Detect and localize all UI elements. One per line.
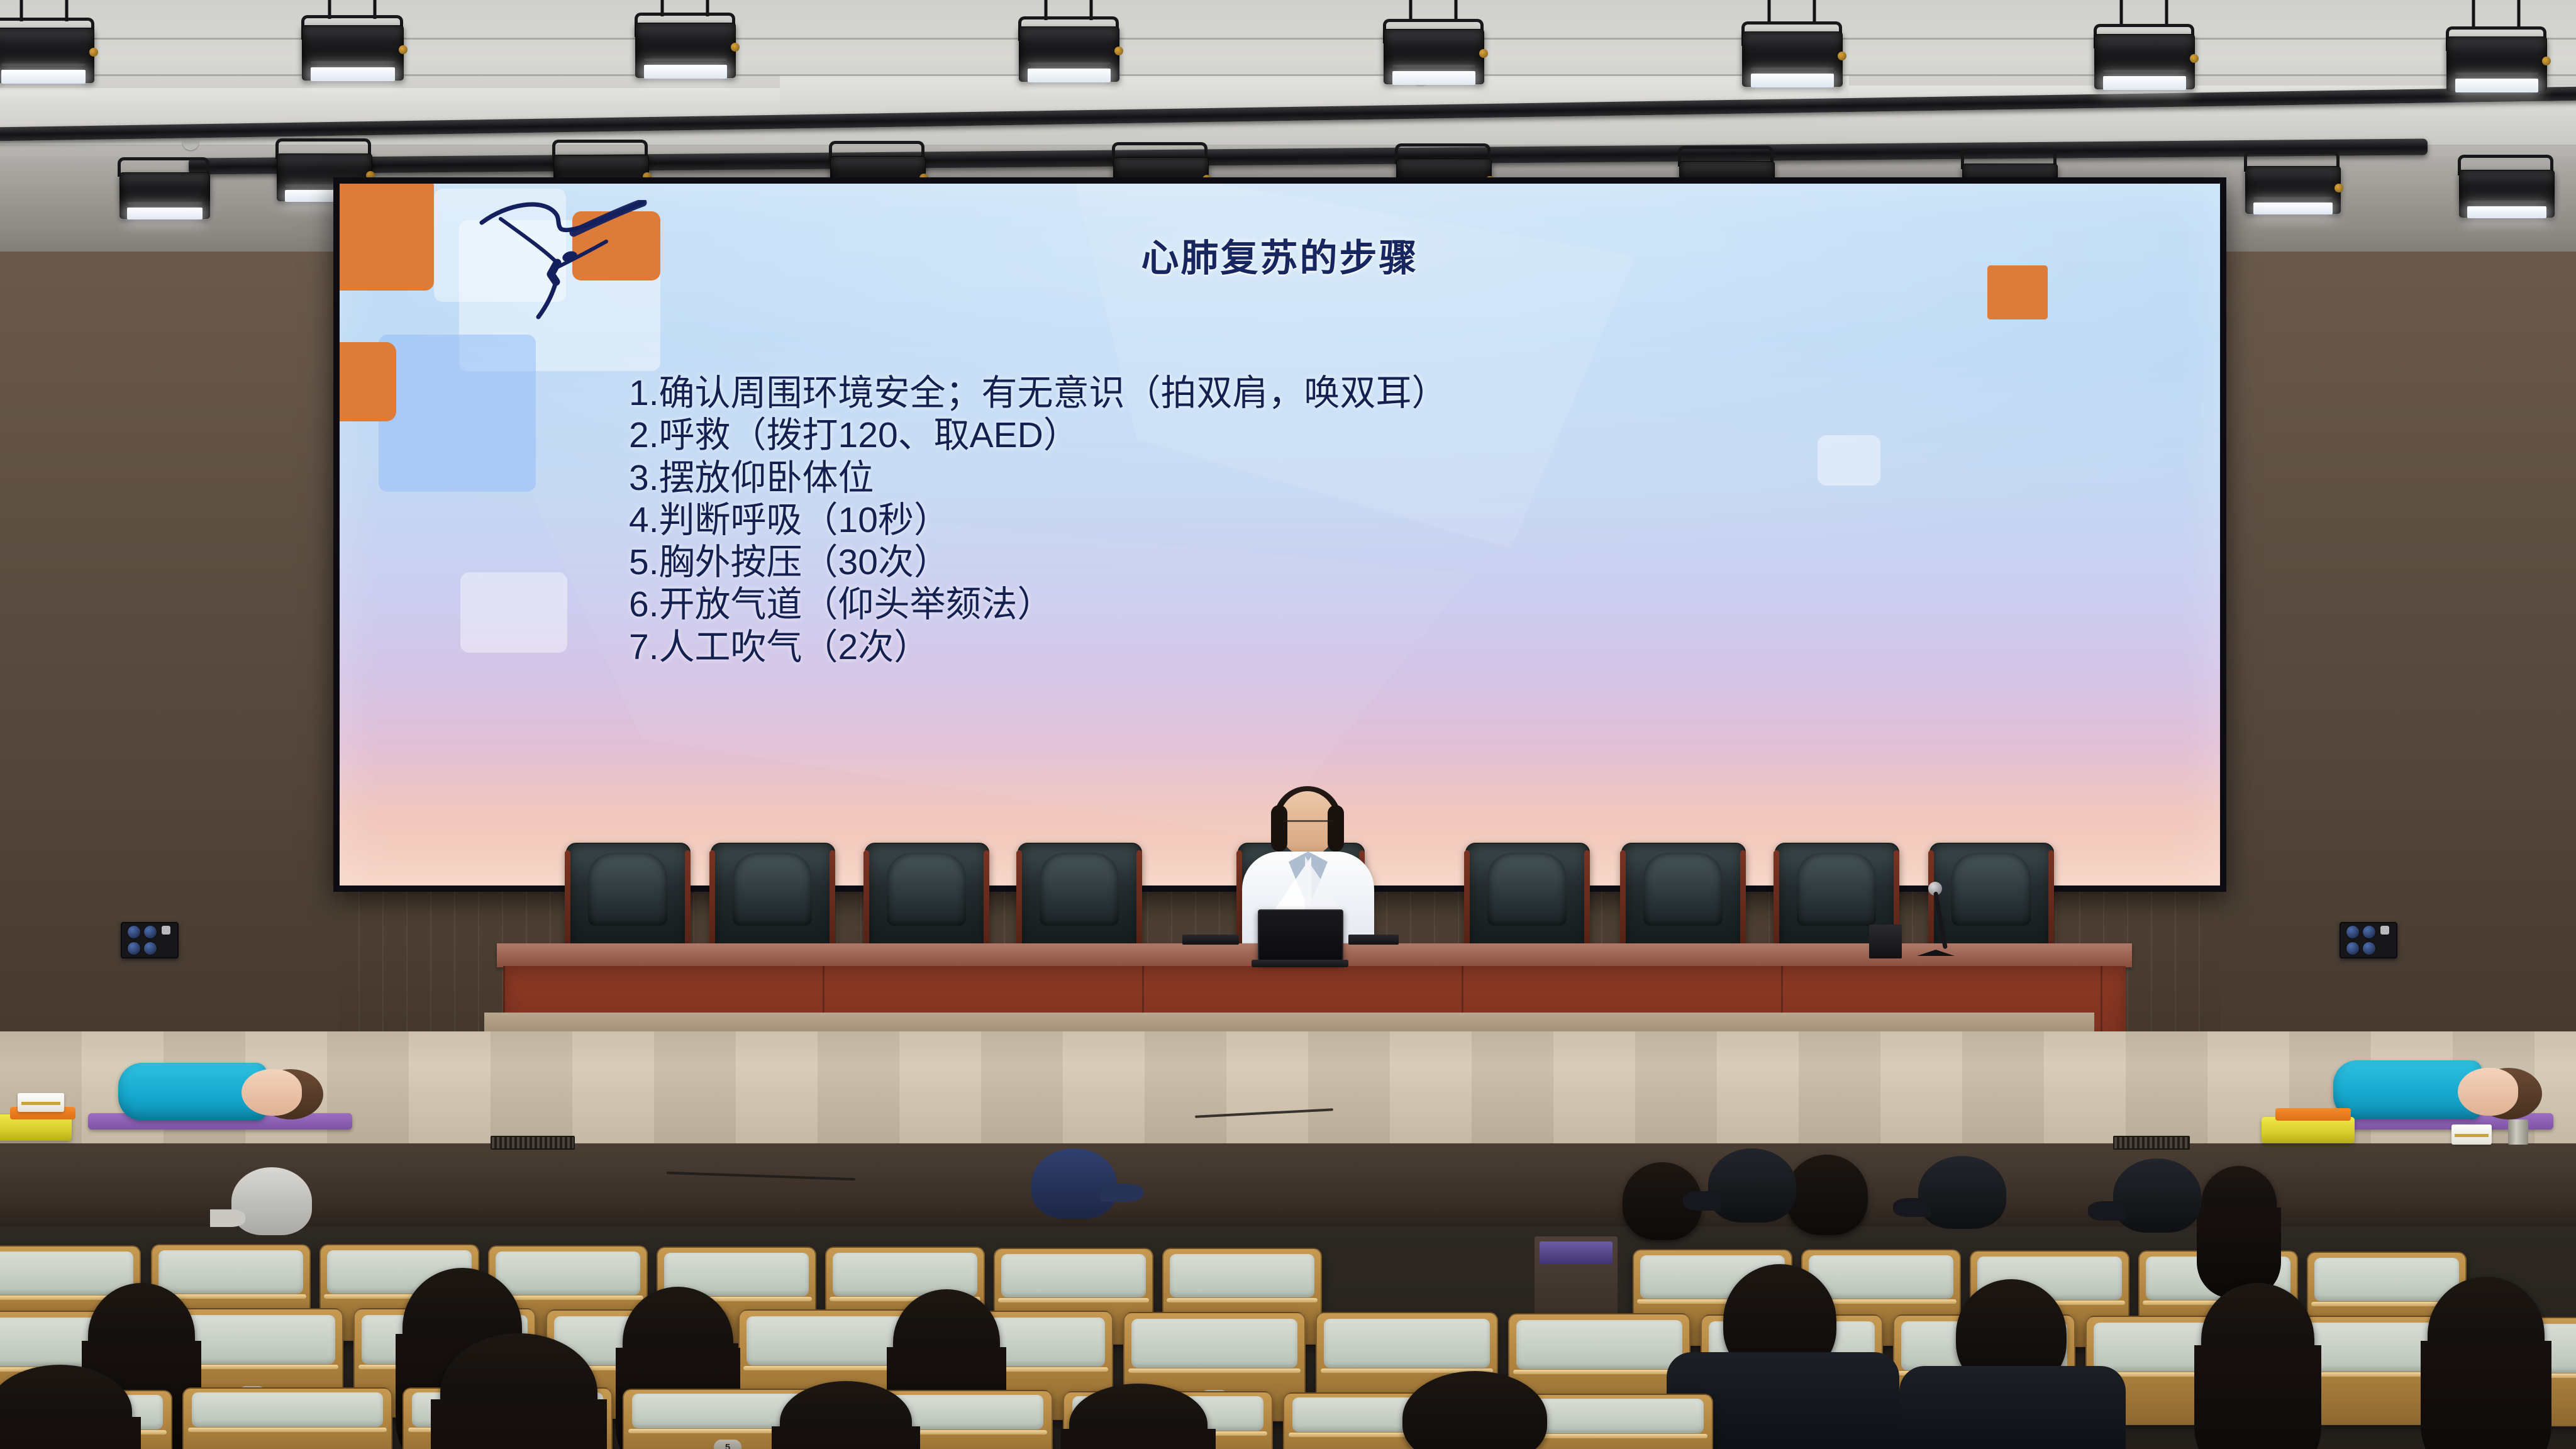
aed-case-right[interactable] — [2262, 1117, 2355, 1143]
audience-seat[interactable] — [182, 1387, 392, 1449]
av-jack — [2346, 926, 2359, 938]
stage-light-u6 — [1736, 9, 1848, 92]
av-switch — [162, 926, 170, 935]
stage-light-u7 — [2088, 11, 2200, 94]
stage-light-l8 — [2239, 147, 2345, 223]
slide-step-6: 6.开放气道（仰头举颏法） — [629, 584, 2163, 626]
desk-item-left — [1182, 935, 1239, 945]
av-jack — [128, 926, 140, 938]
stage-light-u2 — [296, 3, 409, 86]
seat-number: 5 — [714, 1440, 741, 1449]
stage-light-u1 — [0, 6, 101, 88]
stage-light-u3 — [629, 0, 741, 83]
av-jack — [2346, 942, 2359, 955]
audience-head — [1786, 1155, 1868, 1235]
audience-cap-black — [1708, 1148, 1796, 1223]
av-wall-plate-left[interactable] — [121, 922, 179, 958]
av-jack — [144, 926, 157, 938]
stage-floor — [0, 1031, 2576, 1145]
presenter-laptop[interactable] — [1258, 909, 1343, 963]
projection-screen: 心肺复苏的步骤 1.确认周围环境安全；有无意识（拍双肩，唤双耳） 2.呼救（拨打… — [340, 184, 2220, 885]
supply-box-left — [18, 1093, 64, 1112]
wall-panel-right — [2220, 252, 2576, 1044]
slide-step-2: 2.呼救（拨打120、取AED） — [629, 414, 2163, 457]
supply-cup-right — [2508, 1119, 2528, 1145]
aed-case-lid-right — [2275, 1108, 2351, 1121]
stage-light-l0 — [113, 155, 214, 226]
deco-block-orange-3 — [340, 342, 396, 421]
projection-screen-frame: 心肺复苏的步骤 1.确认周围环境安全；有无意识（拍双肩，唤双耳） 2.呼救（拨打… — [333, 177, 2226, 892]
audience-shoulders — [1899, 1366, 2126, 1449]
audience-cap-black — [1918, 1156, 2006, 1229]
audience-head — [623, 1287, 733, 1397]
av-wall-plate-right[interactable] — [2340, 922, 2397, 958]
deco-block-lt-3 — [460, 572, 567, 653]
mic-control-unit[interactable] — [1869, 924, 1902, 958]
stage-light-u5 — [1377, 6, 1489, 89]
av-jack — [144, 942, 157, 955]
av-jack — [128, 942, 140, 955]
audience-head — [2428, 1277, 2545, 1394]
audience-cap-navy — [1031, 1148, 1117, 1219]
slide-step-1: 1.确认周围环境安全；有无意识（拍双肩，唤双耳） — [629, 372, 2163, 414]
slide-step-4: 4.判断呼吸（10秒） — [629, 499, 2163, 541]
audience-head — [88, 1283, 195, 1389]
cpr-manikin-head-right — [2458, 1068, 2518, 1116]
av-jack — [2363, 942, 2375, 955]
slide-title: 心肺复苏的步骤 — [340, 228, 2220, 282]
audience-cap-white — [231, 1167, 312, 1235]
audience-cap-black — [2113, 1158, 2201, 1233]
desk-item-right — [1348, 935, 1399, 945]
presenter-glasses — [1284, 820, 1333, 832]
stage-floor-vent-1 — [491, 1136, 575, 1150]
slide-body: 1.确认周围环境安全；有无意识（拍双肩，唤双耳） 2.呼救（拨打120、取AED… — [629, 372, 2163, 669]
stage-light-u4 — [1013, 4, 1124, 87]
supply-box-right — [2451, 1124, 2492, 1145]
audience-head — [2201, 1283, 2314, 1396]
podium-screen — [1540, 1241, 1613, 1264]
slide-step-7: 7.人工吹气（2次） — [629, 626, 2163, 669]
slide-step-3: 3.摆放仰卧体位 — [629, 457, 2163, 499]
deco-block-md-1 — [379, 335, 536, 492]
av-jack — [2363, 926, 2375, 938]
cpr-manikin-head-left — [241, 1069, 302, 1116]
stage-floor-vent-2 — [2113, 1136, 2190, 1150]
stage-light-u8 — [2440, 14, 2552, 97]
slide-step-5: 5.胸外按压（30次） — [629, 541, 2163, 584]
av-switch — [2380, 926, 2389, 935]
presenter-laptop-base — [1252, 960, 1348, 967]
audience-head — [893, 1289, 1000, 1395]
lecture-hall-scene: 心肺复苏的步骤 1.确认周围环境安全；有无意识（拍双肩，唤双耳） 2.呼救（拨打… — [0, 0, 2576, 1449]
stage-light-l9 — [2453, 151, 2558, 226]
audience-head — [2201, 1166, 2277, 1241]
audience-head — [440, 1333, 597, 1449]
desk-microphone[interactable] — [1912, 880, 1962, 962]
